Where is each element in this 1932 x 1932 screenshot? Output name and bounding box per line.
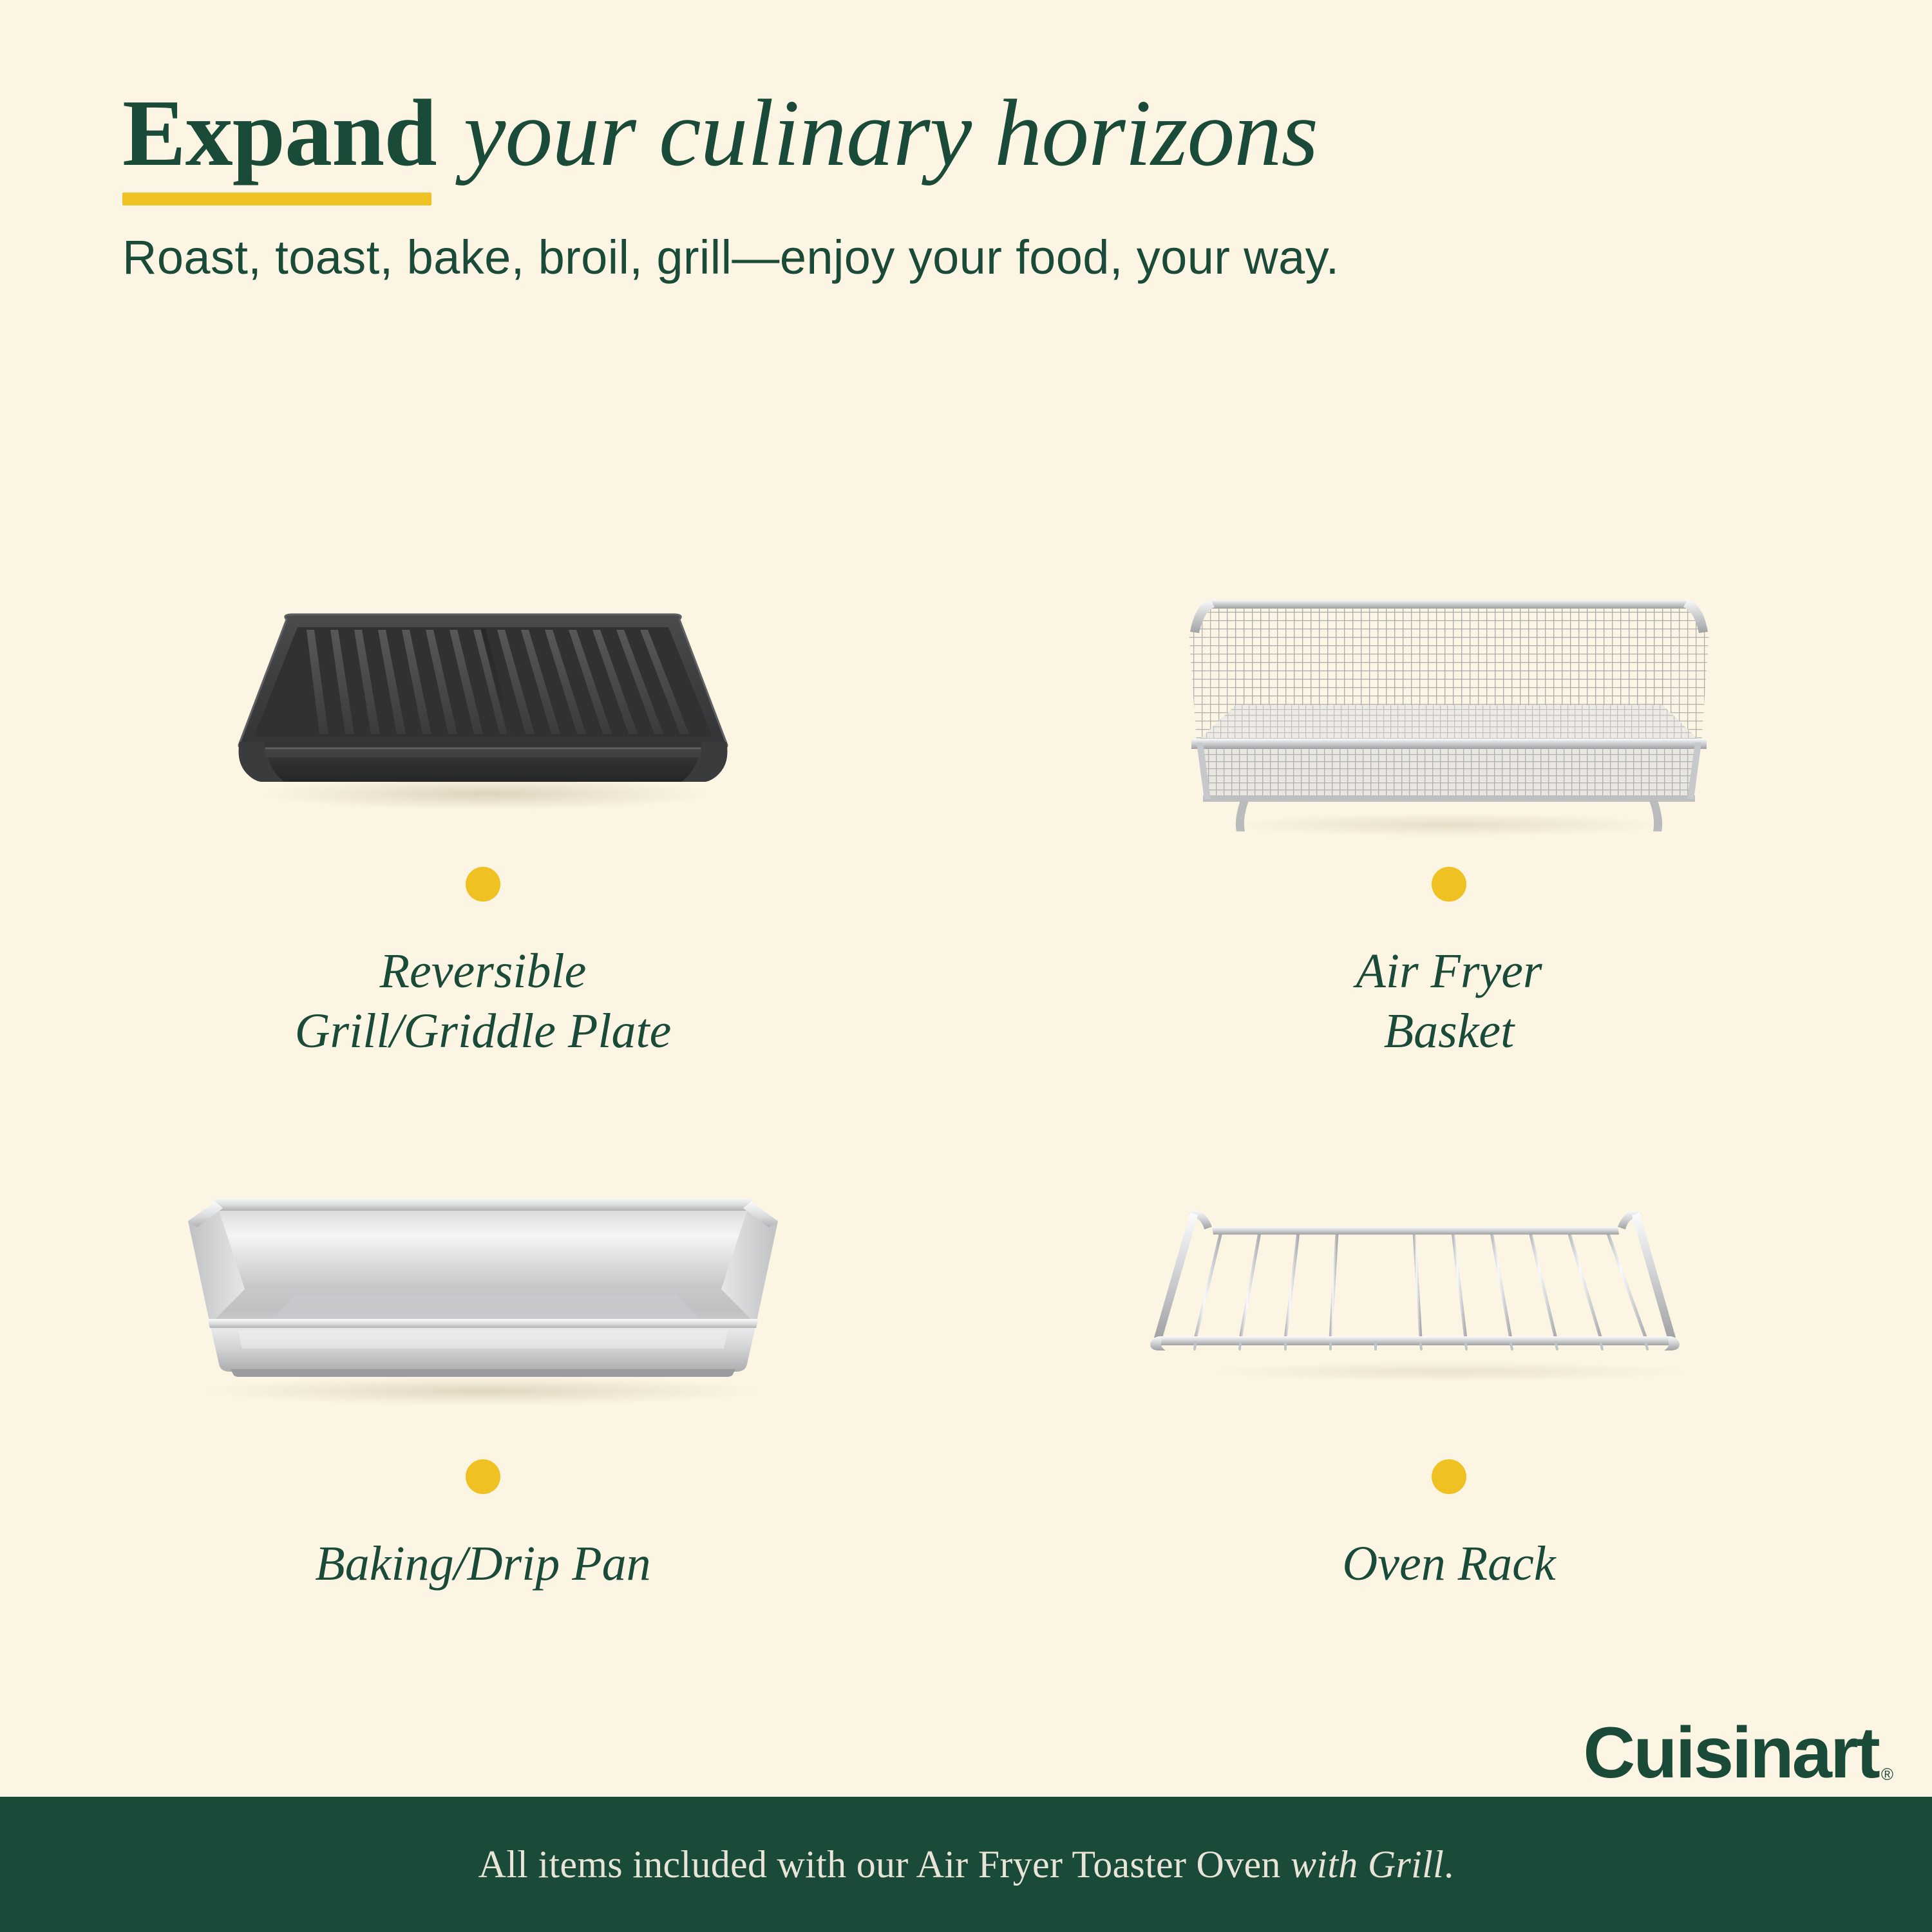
headline-emphasis-text: Expand — [122, 80, 437, 186]
product-image-stage — [109, 1146, 857, 1449]
bullet-dot — [1432, 867, 1466, 902]
page-title: Expand your culinary horizons — [122, 84, 1829, 184]
product-cell-air-fryer-basket: Air Fryer Basket — [966, 554, 1932, 1146]
headline-italic-text: your culinary horizons — [464, 80, 1318, 186]
air-fryer-basket-image — [1185, 570, 1713, 840]
product-grid: Reversible Grill/Griddle Plate — [0, 554, 1932, 1739]
oven-rack-image — [1140, 1201, 1758, 1394]
product-image-stage — [1075, 1146, 1823, 1449]
grill-griddle-plate-icon — [225, 605, 741, 799]
product-cell-grill-griddle-plate: Reversible Grill/Griddle Plate — [0, 554, 966, 1146]
footer-text-after: . — [1444, 1843, 1454, 1886]
footer-bar: All items included with our Air Fryer To… — [0, 1797, 1932, 1932]
baking-drip-pan-image — [148, 1191, 818, 1404]
footer-text-before: All items included with our Air Fryer To… — [478, 1843, 1291, 1886]
footer-disclaimer: All items included with our Air Fryer To… — [478, 1842, 1454, 1887]
product-label-baking-drip-pan: Baking/Drip Pan — [315, 1534, 650, 1594]
page-subtitle: Roast, toast, bake, broil, grill—enjoy y… — [122, 230, 1829, 285]
drop-shadow — [206, 1377, 760, 1405]
drop-shadow — [1230, 813, 1668, 837]
product-image-stage — [1075, 554, 1823, 857]
product-label-oven-rack: Oven Rack — [1342, 1534, 1555, 1594]
air-fryer-basket-icon — [1185, 570, 1713, 840]
bullet-dot — [466, 867, 500, 902]
cuisinart-logo: Cuisinart ® — [1583, 1717, 1893, 1789]
brand-wordmark: Cuisinart — [1583, 1717, 1878, 1789]
header: Expand your culinary horizons Roast, toa… — [122, 84, 1829, 285]
registered-trademark-icon: ® — [1881, 1766, 1893, 1783]
baking-drip-pan-icon — [148, 1191, 818, 1397]
bullet-dot — [1432, 1459, 1466, 1494]
product-image-stage — [109, 554, 857, 857]
bullet-dot — [466, 1459, 500, 1494]
drop-shadow — [1211, 1362, 1687, 1381]
product-cell-baking-drip-pan: Baking/Drip Pan — [0, 1146, 966, 1739]
footer-text-emphasis: with Grill — [1291, 1843, 1444, 1886]
grill-griddle-plate-image — [225, 605, 741, 818]
headline-underline-accent — [122, 193, 431, 205]
promo-page: Expand your culinary horizons Roast, toa… — [0, 0, 1932, 1932]
headline-emphasis: Expand — [122, 84, 440, 184]
product-label-air-fryer-basket: Air Fryer Basket — [1356, 942, 1542, 1061]
product-label-grill-griddle-plate: Reversible Grill/Griddle Plate — [295, 942, 672, 1061]
product-cell-oven-rack: Oven Rack — [966, 1146, 1932, 1739]
